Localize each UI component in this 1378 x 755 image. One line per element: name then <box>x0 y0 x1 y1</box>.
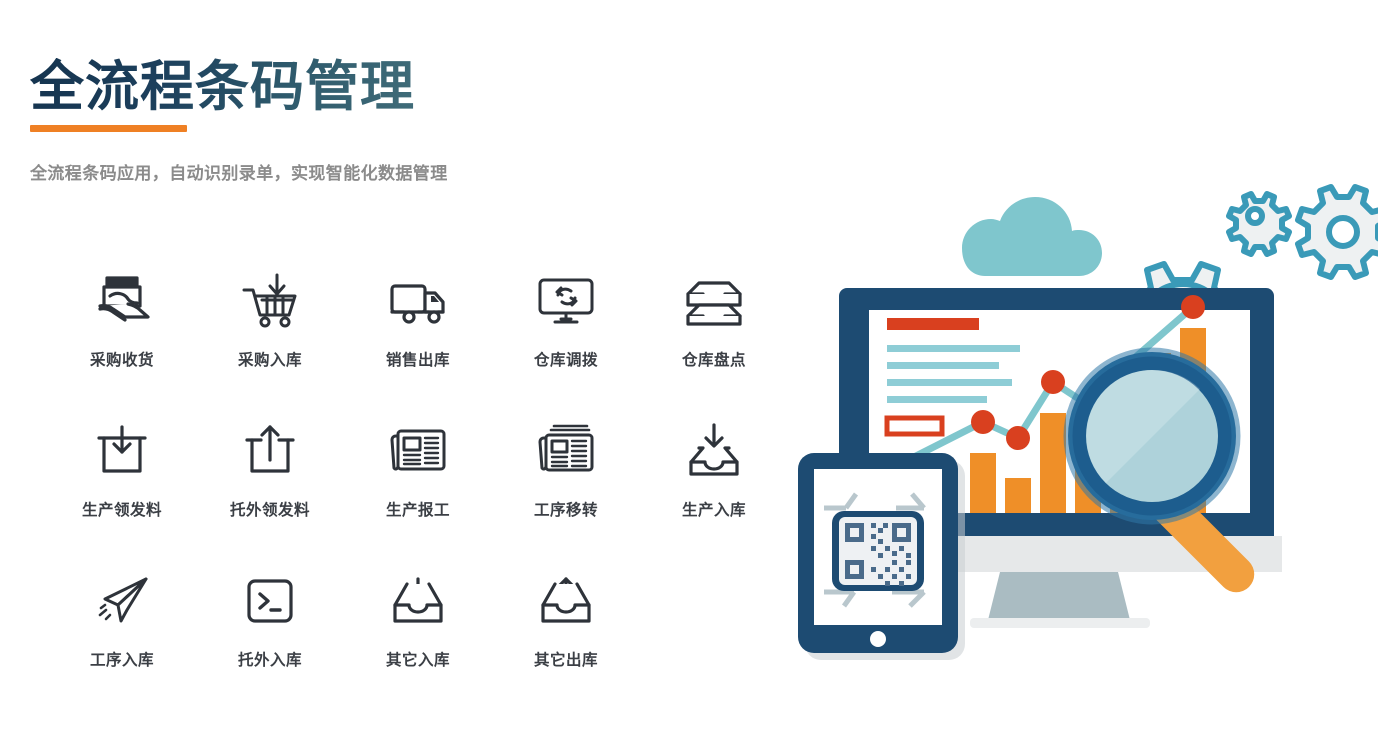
feature-label: 生产入库 <box>682 498 746 520</box>
paper-plane-icon <box>91 568 153 634</box>
feature-item-production-report[interactable]: 生产报工 <box>344 418 492 568</box>
feature-label: 其它入库 <box>386 648 450 670</box>
box-down-arrow-icon <box>91 418 153 484</box>
feature-item-other-instock[interactable]: 其它入库 <box>344 568 492 718</box>
feature-label: 托外领发料 <box>230 498 310 520</box>
feature-item-sales-outstock[interactable]: 销售出库 <box>344 268 492 418</box>
newspaper-report-icon <box>387 418 449 484</box>
delivery-truck-icon <box>387 268 449 334</box>
barcode-analytics-illustration <box>792 160 1378 680</box>
feature-item-outsource-instock[interactable]: 托外入库 <box>196 568 344 718</box>
newspaper-transfer-icon <box>535 418 597 484</box>
feature-item-process-instock[interactable]: 工序入库 <box>48 568 196 718</box>
tray-in-icon <box>387 568 449 634</box>
cart-down-arrow-icon <box>239 268 301 334</box>
feature-item-production-instock[interactable]: 生产入库 <box>640 418 788 568</box>
feature-label: 仓库调拨 <box>534 348 598 370</box>
feature-item-purchase-receive[interactable]: 采购收货 <box>48 268 196 418</box>
feature-item-process-transfer[interactable]: 工序移转 <box>492 418 640 568</box>
hand-receiving-box-icon <box>91 268 153 334</box>
feature-label: 采购收货 <box>90 348 154 370</box>
feature-label: 工序入库 <box>90 648 154 670</box>
feature-item-outsource-issue[interactable]: 托外领发料 <box>196 418 344 568</box>
monitor-transfer-icon <box>535 268 597 334</box>
feature-label: 采购入库 <box>238 348 302 370</box>
feature-label: 销售出库 <box>386 348 450 370</box>
feature-label: 托外入库 <box>238 648 302 670</box>
page-title: 全流程条码管理 <box>30 58 448 116</box>
feature-label: 生产领发料 <box>82 498 162 520</box>
feature-item-other-outstock[interactable]: 其它出库 <box>492 568 640 718</box>
landing-page-root: 全流程条码管理 全流程条码应用，自动识别录单，实现智能化数据管理 采购收货 <box>0 0 1378 755</box>
feature-item-warehouse-stocktake[interactable]: 仓库盘点 <box>640 268 788 418</box>
terminal-console-icon <box>239 568 301 634</box>
feature-item-warehouse-transfer[interactable]: 仓库调拨 <box>492 268 640 418</box>
feature-icon-grid: 采购收货 采购入库 <box>48 268 788 718</box>
magnifier-ring <box>1068 352 1236 520</box>
tray-out-icon <box>535 568 597 634</box>
feature-item-purchase-instock[interactable]: 采购入库 <box>196 268 344 418</box>
stacked-trays-icon <box>683 268 745 334</box>
gear-medium <box>1298 187 1378 277</box>
feature-label: 生产报工 <box>386 498 450 520</box>
screen-headline <box>887 318 979 330</box>
inbox-down-arrow-icon <box>683 418 745 484</box>
feature-item-production-issue[interactable]: 生产领发料 <box>48 418 196 568</box>
title-accent-underline <box>30 125 187 132</box>
gear-small <box>1229 194 1289 254</box>
feature-label: 仓库盘点 <box>682 348 746 370</box>
feature-label: 其它出库 <box>534 648 598 670</box>
qr-code <box>832 511 924 591</box>
heading-block: 全流程条码管理 全流程条码应用，自动识别录单，实现智能化数据管理 <box>30 58 448 184</box>
feature-label: 工序移转 <box>534 498 598 520</box>
box-up-arrow-icon <box>239 418 301 484</box>
cloud-shape <box>962 197 1102 276</box>
page-subtitle: 全流程条码应用，自动识别录单，实现智能化数据管理 <box>30 159 448 184</box>
